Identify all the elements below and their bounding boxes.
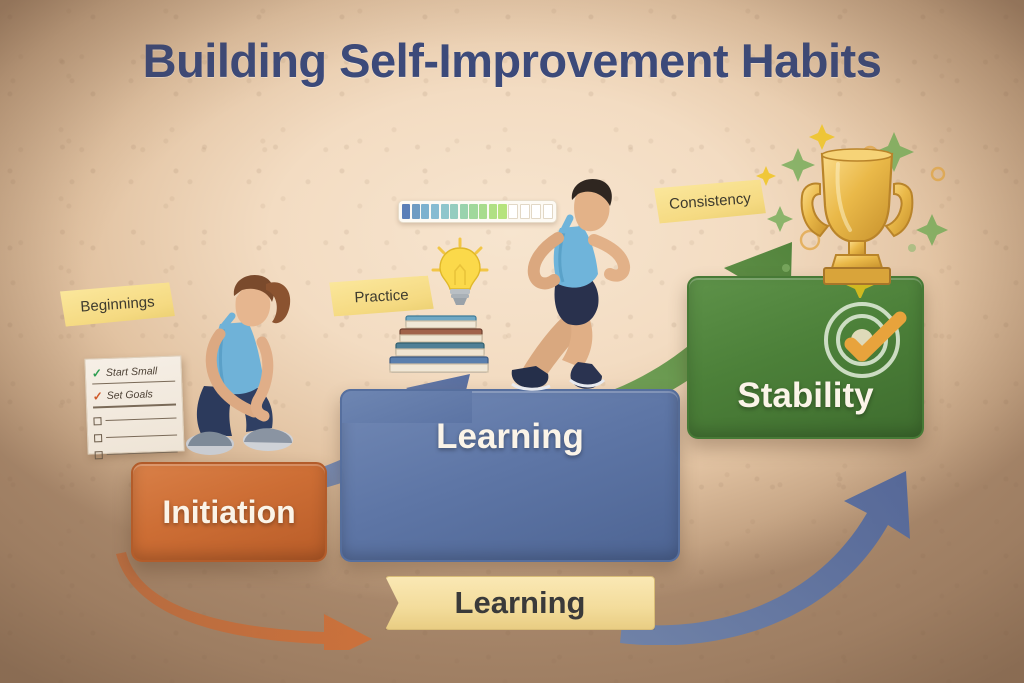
checklist-label: Set Goals bbox=[107, 389, 154, 403]
progress-segment-filled bbox=[489, 204, 497, 219]
checklist-blank-line bbox=[106, 435, 177, 439]
progress-segment-filled bbox=[441, 204, 449, 219]
checklist-blank-line bbox=[107, 452, 178, 456]
checkbox[interactable] bbox=[94, 434, 102, 442]
bottom-banner[interactable]: Learning bbox=[385, 576, 655, 630]
progress-segment-filled bbox=[431, 204, 439, 219]
progress-segment-filled bbox=[402, 204, 410, 219]
progress-segment-filled bbox=[450, 204, 458, 219]
step-label-learning: Learning bbox=[436, 417, 584, 457]
checklist-divider bbox=[93, 404, 176, 408]
step-label-initiation: Initiation bbox=[162, 494, 295, 531]
sticky-label-consistency: Consistency bbox=[669, 190, 752, 213]
person-tying-shoes bbox=[180, 268, 310, 468]
checklist-blank-line bbox=[106, 418, 177, 422]
step-block-initiation[interactable]: Initiation bbox=[131, 462, 327, 562]
progress-segment-filled bbox=[498, 204, 506, 219]
checklist-row[interactable]: ✓ Set Goals bbox=[92, 387, 175, 404]
checkbox[interactable] bbox=[95, 451, 103, 459]
checkbox[interactable] bbox=[93, 417, 101, 425]
sticky-note-beginnings[interactable]: Beginnings bbox=[60, 282, 175, 327]
page-title: Building Self-Improvement Habits bbox=[0, 33, 1024, 88]
sticky-label-practice: Practice bbox=[354, 286, 409, 306]
book-stack-icon bbox=[386, 312, 496, 382]
progress-segment-filled bbox=[469, 204, 477, 219]
checklist-empty-row[interactable] bbox=[94, 445, 177, 462]
infographic-canvas: Building Self-Improvement Habits bbox=[0, 0, 1024, 683]
sticky-note-practice[interactable]: Practice bbox=[329, 275, 434, 316]
checklist-empty-row[interactable] bbox=[93, 411, 176, 428]
sticky-note-consistency[interactable]: Consistency bbox=[654, 179, 766, 224]
progress-segment-filled bbox=[421, 204, 429, 219]
checklist-row[interactable]: ✓ Start Small bbox=[92, 364, 175, 381]
learning-step-riser bbox=[340, 389, 472, 423]
check-icon: ✓ bbox=[92, 390, 102, 402]
checklist-divider bbox=[92, 381, 175, 385]
checklist-card[interactable]: ✓ Start Small ✓ Set Goals bbox=[84, 355, 184, 454]
check-icon: ✓ bbox=[92, 367, 102, 379]
banner-label: Learning bbox=[455, 585, 586, 621]
target-check-icon bbox=[818, 292, 914, 388]
trophy-icon bbox=[798, 138, 916, 288]
sticky-label-beginnings: Beginnings bbox=[80, 293, 155, 315]
progress-segment-filled bbox=[460, 204, 468, 219]
progress-segment-filled bbox=[479, 204, 487, 219]
checklist-label: Start Small bbox=[106, 365, 158, 379]
person-running bbox=[508, 174, 656, 406]
checklist-empty-row[interactable] bbox=[94, 428, 177, 445]
progress-segment-filled bbox=[412, 204, 420, 219]
lightbulb-icon bbox=[431, 237, 489, 309]
